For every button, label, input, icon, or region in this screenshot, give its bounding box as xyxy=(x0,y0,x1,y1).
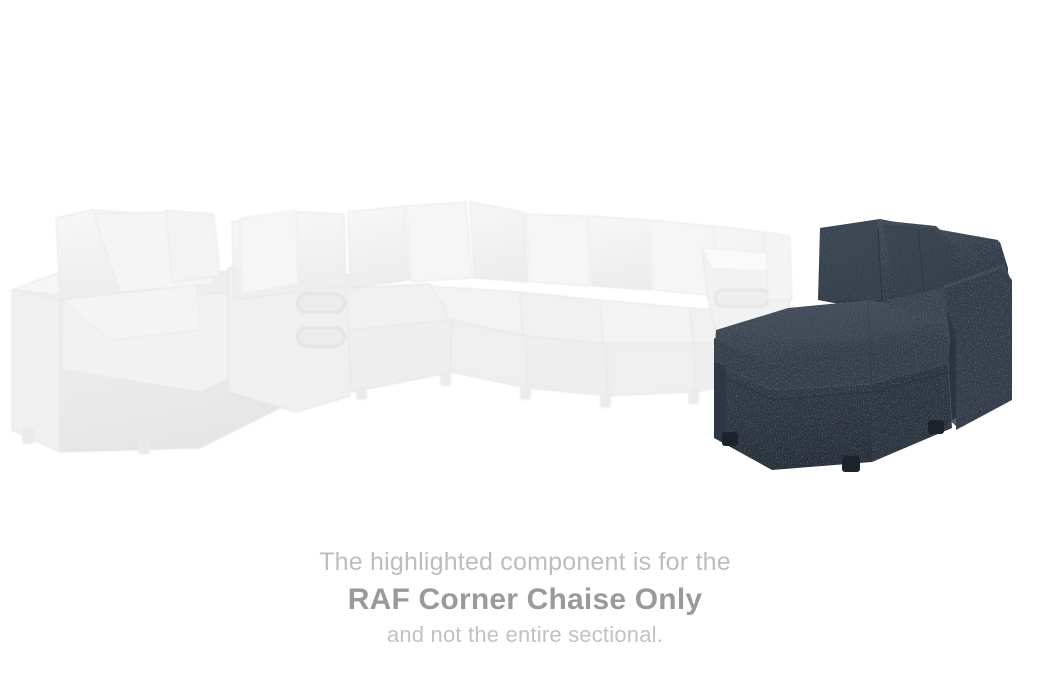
ghost-cupholder-upper xyxy=(296,292,346,314)
caption-block: The highlighted component is for the RAF… xyxy=(0,545,1050,650)
ghost-sectional-group xyxy=(12,202,792,454)
chaise-foot-front-left xyxy=(722,432,738,446)
product-image-canvas: The highlighted component is for the RAF… xyxy=(0,0,1050,700)
chaise-foot-back-right xyxy=(928,420,944,434)
chaise-foot-front-right xyxy=(842,456,860,472)
ghost-seat-run xyxy=(346,284,772,408)
ghost-left-run xyxy=(232,210,346,300)
caption-component-name: RAF Corner Chaise Only xyxy=(0,579,1050,620)
ghost-cupholder-lower xyxy=(296,326,346,348)
caption-line-disclaimer: and not the entire sectional. xyxy=(0,620,1050,650)
chaise-base-left-end xyxy=(714,362,726,442)
ghost-right-end xyxy=(766,232,792,300)
caption-line-intro: The highlighted component is for the xyxy=(0,545,1050,579)
sectional-illustration-svg xyxy=(0,0,1050,520)
product-illustration xyxy=(0,0,1050,520)
